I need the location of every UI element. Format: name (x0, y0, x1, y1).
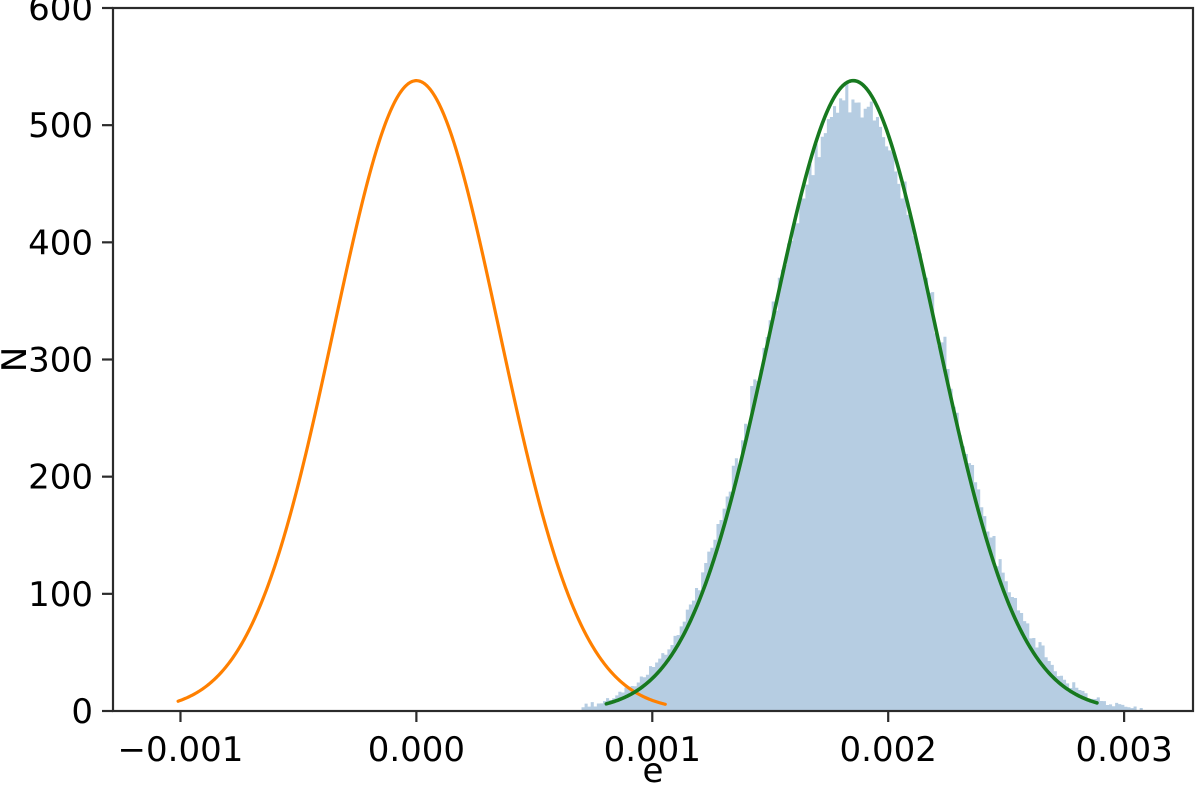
matplotlib-figure: −0.0010.0000.0010.0020.00301002003004005… (0, 0, 1200, 789)
y-axis-label: N (0, 347, 35, 372)
y-tick-label: 500 (28, 106, 93, 146)
curve-orange-gaussian (178, 81, 665, 705)
plot-frame (113, 8, 1193, 711)
chart-canvas: −0.0010.0000.0010.0020.00301002003004005… (0, 0, 1200, 789)
y-tick-label: 200 (28, 458, 93, 498)
y-tick-label: 300 (28, 341, 93, 381)
x-tick-label: −0.001 (118, 730, 244, 770)
axes: −0.0010.0000.0010.0020.00301002003004005… (0, 0, 1193, 789)
x-tick-label: 0.002 (840, 730, 937, 770)
x-tick-label: 0.000 (368, 730, 465, 770)
y-tick-label: 400 (28, 223, 93, 263)
x-axis-label: e (643, 751, 664, 789)
x-tick-label: 0.003 (1075, 730, 1172, 770)
histogram-bars (582, 83, 1143, 711)
y-tick-label: 0 (71, 692, 93, 732)
y-tick-label: 100 (28, 575, 93, 615)
y-tick-label: 600 (28, 0, 93, 29)
